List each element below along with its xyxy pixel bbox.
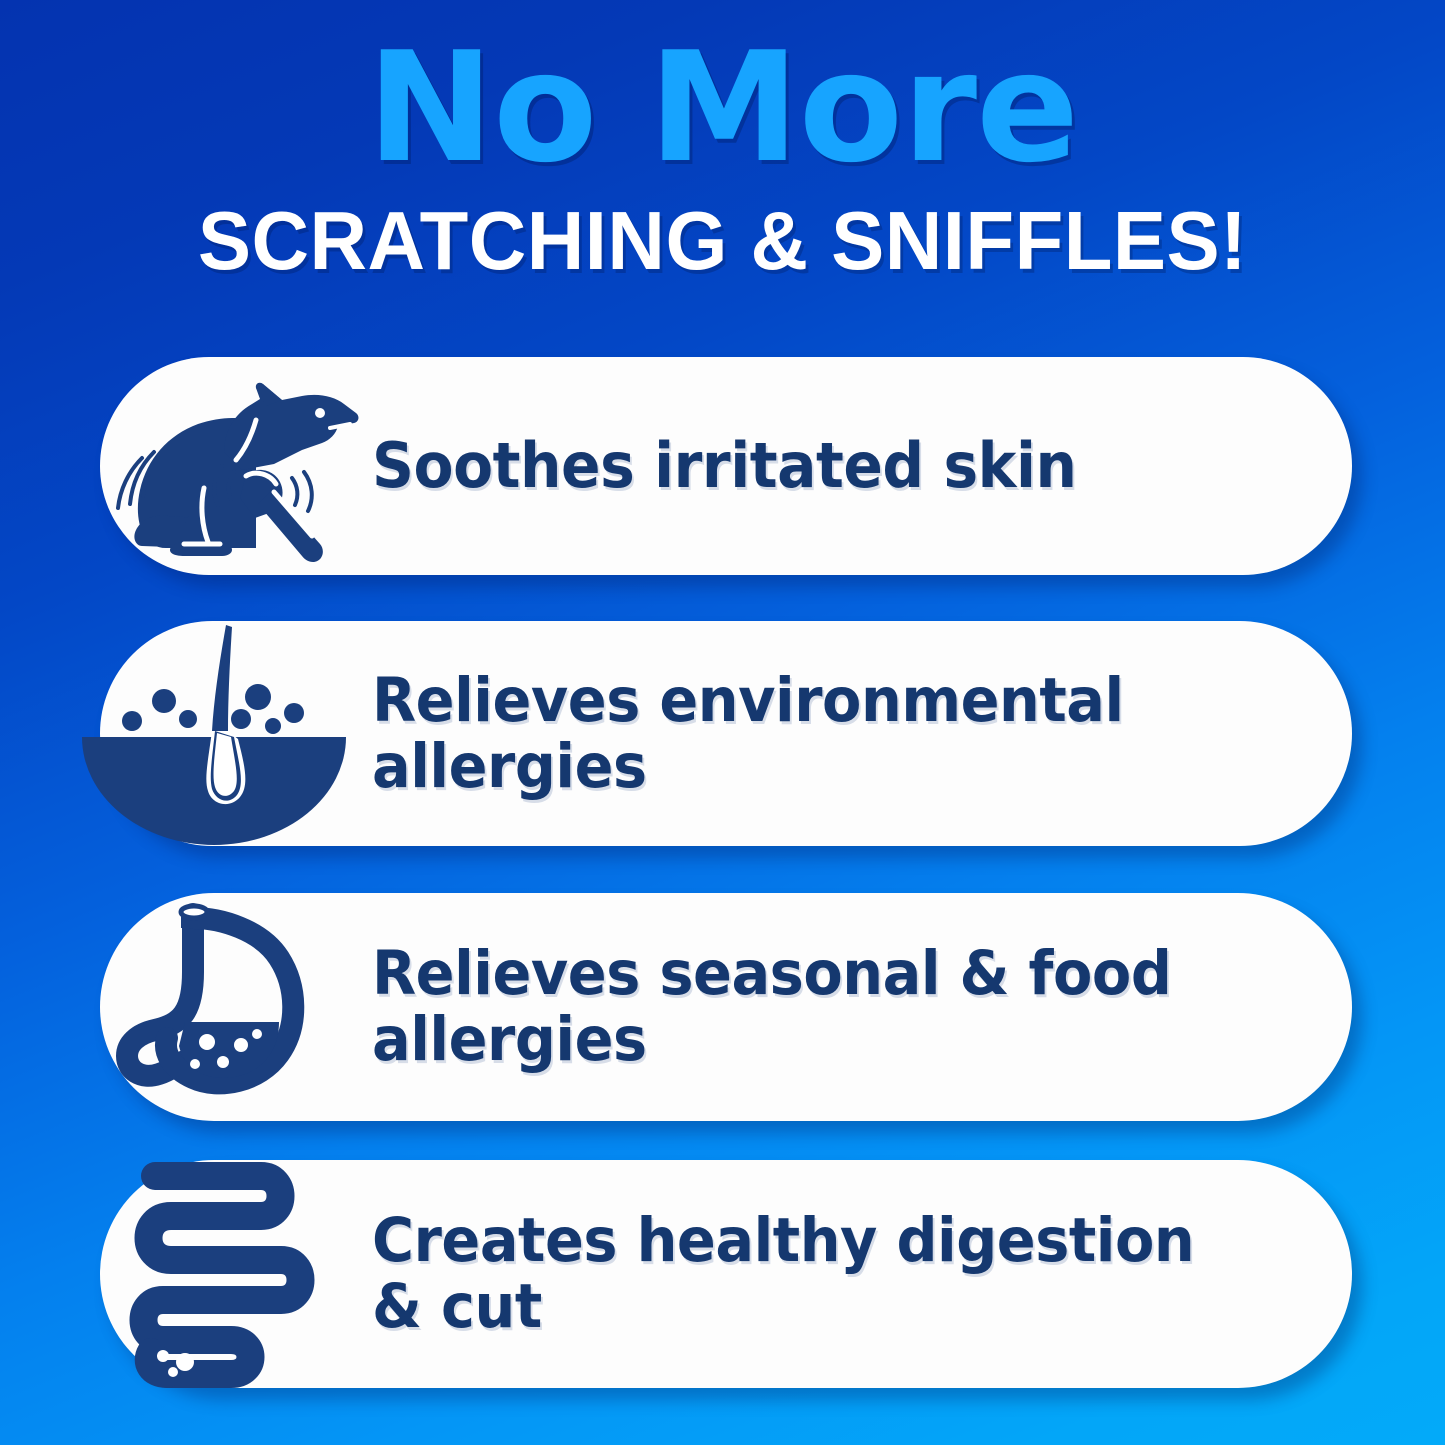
benefit-card-soothes-irritated-skin: Soothes irritated skin [100,357,1352,575]
page-subtitle: SCRATCHING & SNIFFLES! [29,199,1416,282]
benefit-card-relieves-environmental-allergies: Relieves environmental allergies [100,621,1352,846]
page-title: No More [0,34,1445,183]
benefit-card-relieves-seasonal-food-allergies: Relieves seasonal & food allergies [100,893,1352,1121]
hair-follicle-skin-icon [100,621,372,846]
benefit-label: Creates healthy digestion & cut [372,1208,1293,1340]
benefit-label: Soothes irritated skin [372,433,1293,500]
benefit-label: Relieves environmental allergies [372,668,1293,800]
benefit-card-creates-healthy-digestion: Creates healthy digestion & cut [100,1160,1352,1388]
header: No More SCRATCHING & SNIFFLES! [0,34,1445,282]
promo-poster: No More SCRATCHING & SNIFFLES! [0,0,1445,1445]
stomach-icon [100,893,372,1121]
dog-scratching-icon [100,357,372,575]
benefit-label: Relieves seasonal & food allergies [372,941,1293,1073]
intestines-icon [100,1160,372,1388]
